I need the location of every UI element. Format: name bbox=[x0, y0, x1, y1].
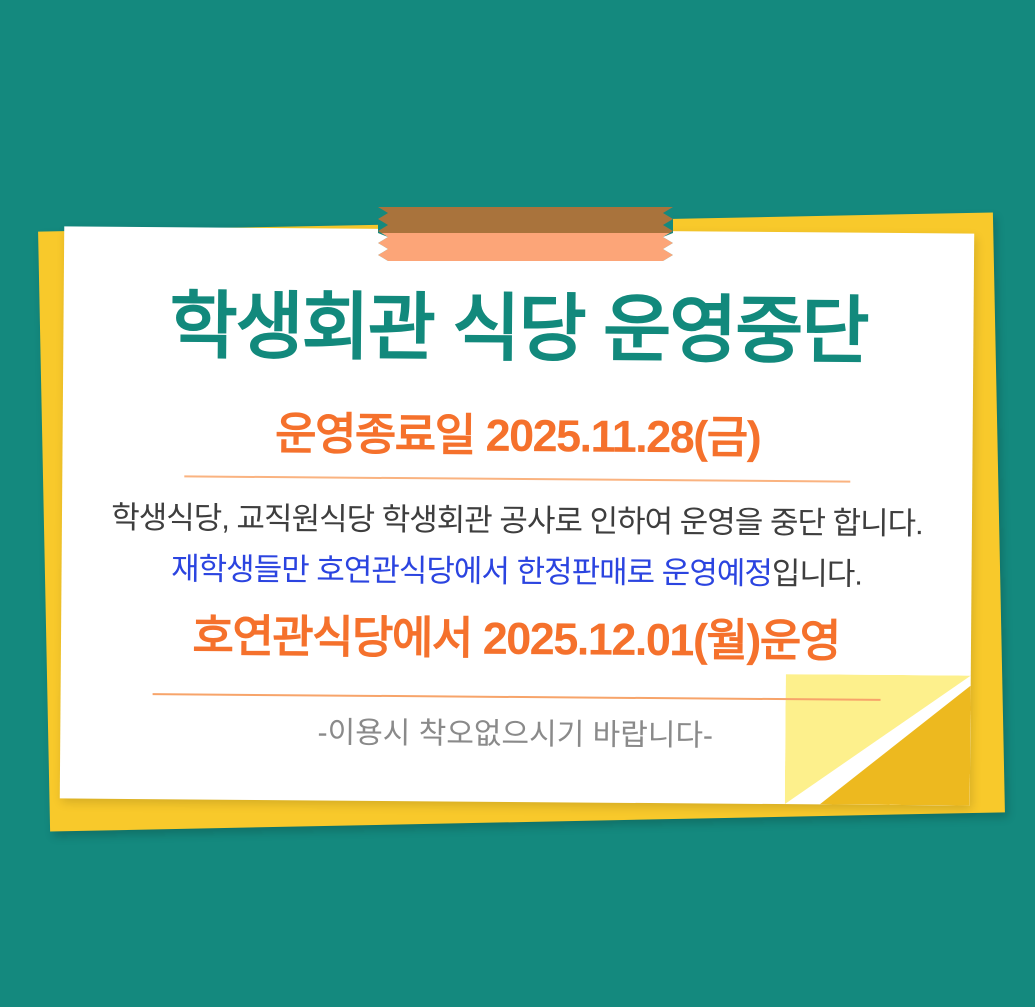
body-text-line-1: 학생식당, 교직원식당 학생회관 공사로 인하여 운영을 중단 합니다. bbox=[62, 501, 972, 539]
end-date-subtitle: 운영종료일 2025.11.28(금) bbox=[62, 409, 972, 461]
tape-decoration-icon bbox=[378, 207, 673, 261]
body-text-line-2-blue: 재학생들만 호연관식당에서 한정판매로 운영예정 bbox=[171, 551, 772, 591]
page-title: 학생회관 식당 운영중단 bbox=[63, 288, 974, 369]
notice-content: 학생회관 식당 운영중단 운영종료일 2025.11.28(금) 학생식당, 교… bbox=[60, 226, 974, 805]
divider-top bbox=[184, 475, 850, 482]
body-text-line-2-dark: 입니다. bbox=[772, 556, 862, 592]
poster-canvas: 학생회관 식당 운영중단 운영종료일 2025.11.28(금) 학생식당, 교… bbox=[0, 0, 1035, 1007]
divider-bottom bbox=[153, 693, 881, 701]
reopen-highlight-text: 호연관식당에서 2025.12.01(월)운영 bbox=[61, 612, 971, 664]
body-text-line-2: 재학생들만 호연관식당에서 한정판매로 운영예정입니다. bbox=[61, 552, 971, 590]
footer-note: -이용시 착오없으시기 바랍니다- bbox=[60, 716, 970, 753]
